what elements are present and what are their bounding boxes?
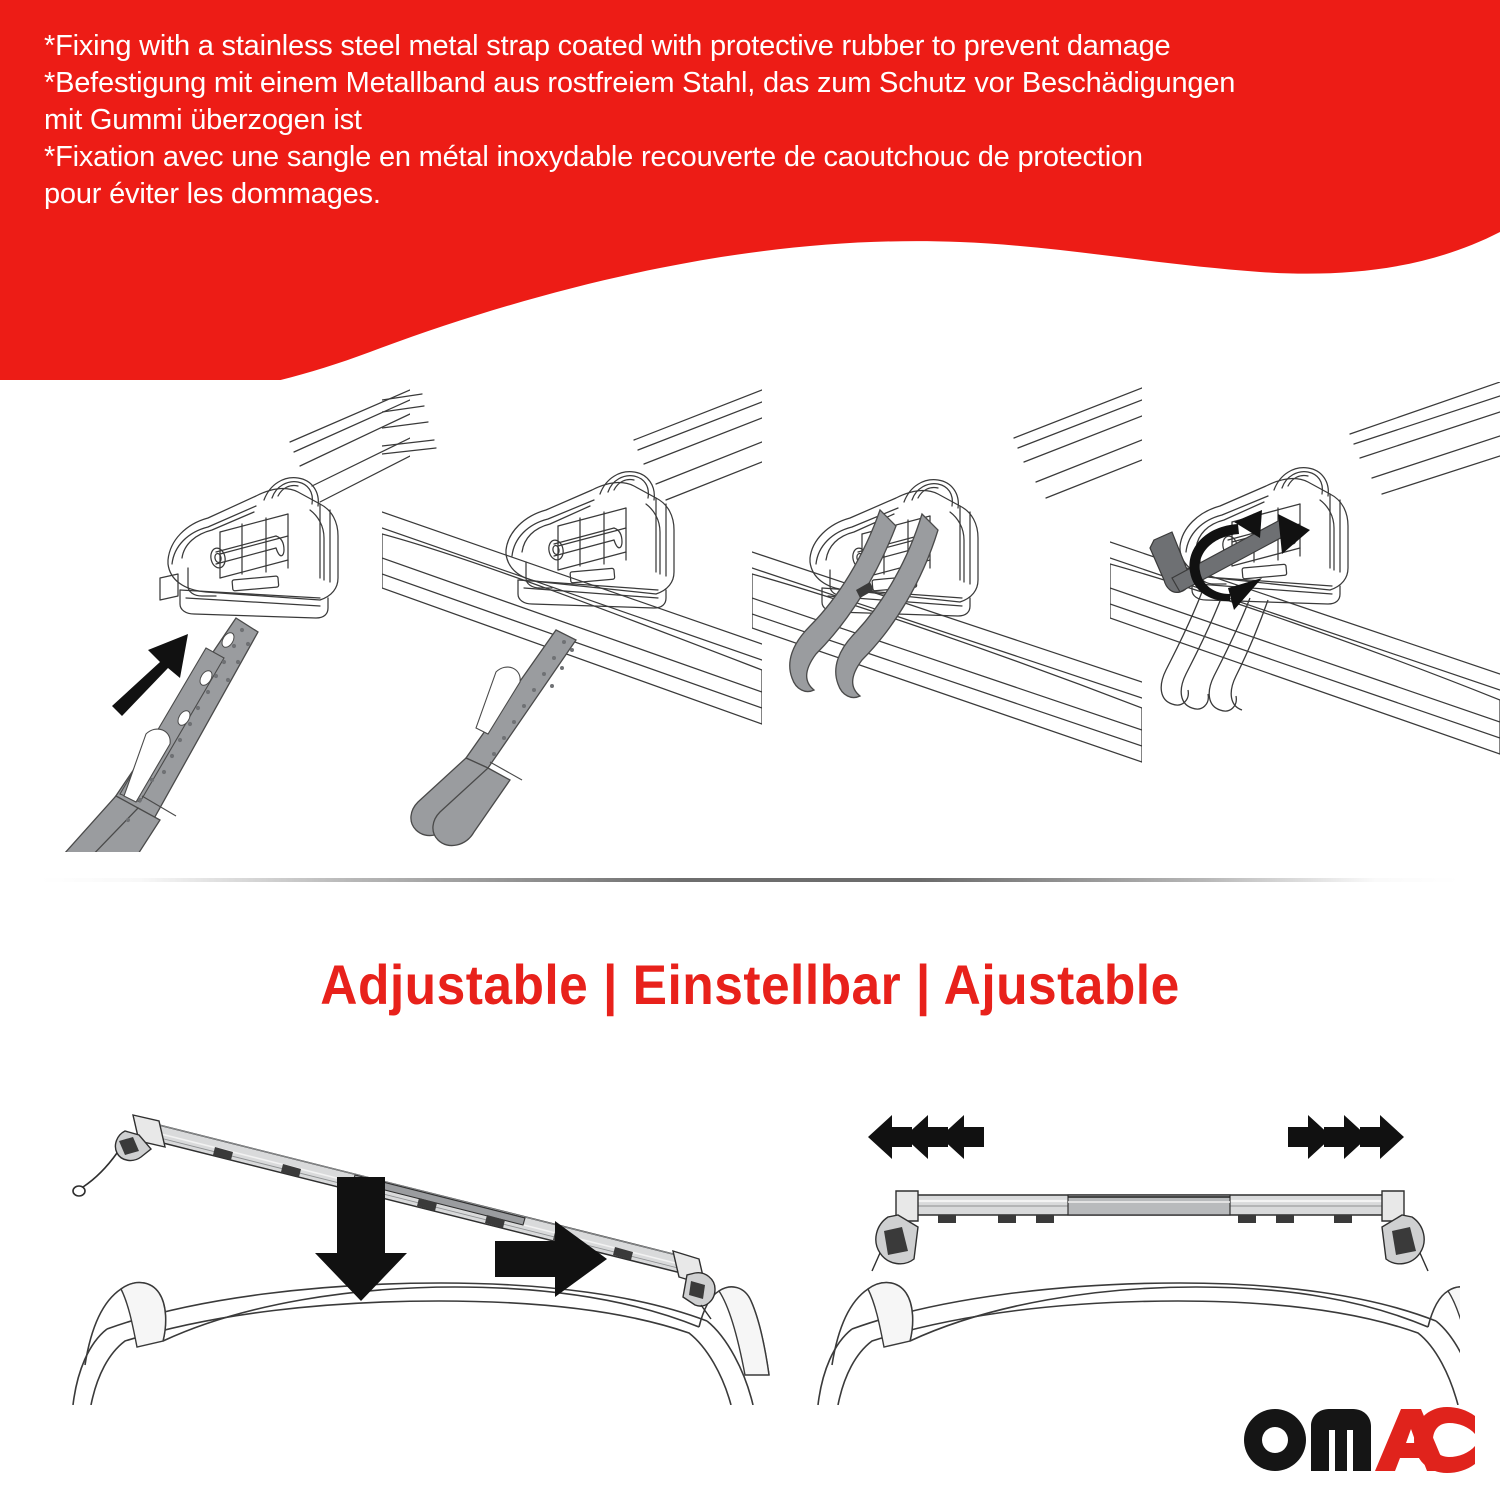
car-roof-outline — [73, 1283, 769, 1405]
rack-foot-strap-wrapped-linework — [752, 388, 1142, 762]
triple-arrow-right-icon — [1288, 1115, 1404, 1159]
rack-foot-on-rail-linework — [382, 390, 762, 724]
logo-letter-m — [1311, 1409, 1371, 1471]
triple-arrow-left-icon — [868, 1115, 984, 1159]
step-2-foot-on-rail — [382, 382, 762, 852]
step-3-strap-wrapped — [752, 382, 1142, 852]
rubber-coated-strap — [411, 630, 576, 846]
car-roof-outline — [818, 1283, 1460, 1405]
strap-outline — [1161, 592, 1268, 711]
logo-letter-c — [1414, 1407, 1475, 1473]
omac-logo — [1243, 1404, 1475, 1474]
logo-letter-o — [1244, 1409, 1306, 1471]
infographic-page: *Fixing with a stainless steel metal str… — [0, 0, 1500, 1500]
roof-rail-tips — [121, 1283, 769, 1375]
banner-text: *Fixing with a stainless steel metal str… — [44, 28, 1444, 213]
width-adjust-diagram — [800, 1075, 1460, 1405]
installation-steps-strip — [0, 382, 1500, 862]
section-divider — [40, 878, 1460, 882]
step-1-strap-insert — [20, 382, 410, 852]
step-4-tighten-bolt — [1110, 382, 1500, 852]
cross-bar-installed — [872, 1191, 1428, 1271]
adjustable-heading: Adjustable | Einstellbar | Ajustable — [60, 952, 1440, 1017]
rack-foot-linework — [160, 390, 410, 618]
placement-diagram — [55, 1075, 775, 1405]
roof-rail-tips — [868, 1283, 1460, 1375]
